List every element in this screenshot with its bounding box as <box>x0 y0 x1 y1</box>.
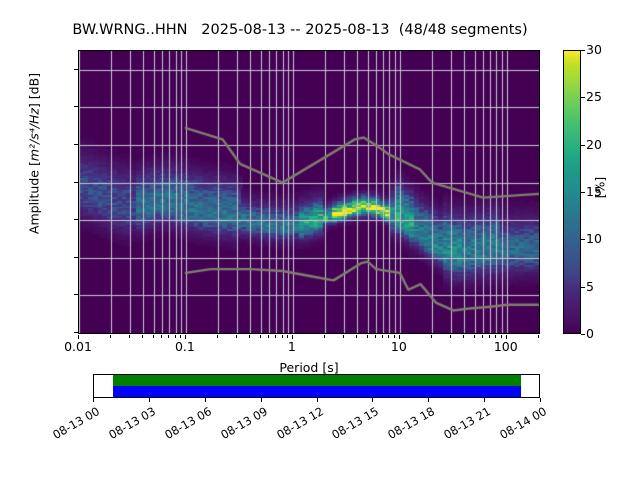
timeline-tick-mark <box>540 398 541 402</box>
timeline-tick-label: 08-14 00 <box>492 404 549 445</box>
colorbar-tick-mark <box>581 97 585 98</box>
timeline-tick-label: 08-13 15 <box>324 404 381 445</box>
x-tick-minor <box>431 335 432 338</box>
timeline-tick-label: 08-13 00 <box>45 404 102 445</box>
x-axis-label: Period [s] <box>78 360 540 375</box>
x-tick-minor <box>260 335 261 338</box>
colorbar-tick-label: 30 <box>586 42 602 57</box>
colorbar-tick-mark <box>581 145 585 146</box>
x-tick-minor <box>382 335 383 338</box>
x-tick-minor <box>161 335 162 338</box>
x-tick-minor <box>356 335 357 338</box>
y-tick-mark <box>74 257 78 258</box>
timeline-tick-mark <box>372 398 373 402</box>
x-tick-label: 0.1 <box>145 339 225 354</box>
x-tick-minor <box>538 335 539 338</box>
y-axis-label: Amplitude [m²/s⁴/Hz] [dB] <box>27 24 42 284</box>
x-tick-minor <box>110 335 111 338</box>
x-tick-label: 1 <box>252 339 332 354</box>
y-tick-mark <box>74 106 78 107</box>
x-tick-minor <box>375 335 376 338</box>
y-tick-mark <box>74 144 78 145</box>
y-tick-mark <box>74 219 78 220</box>
colorbar-tick-label: 0 <box>586 326 594 341</box>
timeline-tick-mark <box>317 398 318 402</box>
colorbar-label: [%] <box>593 108 608 268</box>
coverage-bar-blue <box>113 386 521 397</box>
colorbar-tick-label: 5 <box>586 279 594 294</box>
colorbar-tick-label: 25 <box>586 89 602 104</box>
x-tick-minor <box>268 335 269 338</box>
timeline-tick-label: 08-13 03 <box>101 404 158 445</box>
colorbar-tick-mark <box>581 239 585 240</box>
page-title: BW.WRNG..HHN 2025-08-13 -- 2025-08-13 (4… <box>0 22 600 38</box>
timeline-tick-label: 08-13 21 <box>436 404 493 445</box>
ppsd-plot-area[interactable] <box>78 50 540 334</box>
x-tick-mark <box>78 335 79 339</box>
x-tick-minor <box>236 335 237 338</box>
y-axis-label-suffix: ] [dB] <box>27 73 42 108</box>
x-tick-minor <box>282 335 283 338</box>
x-tick-label: 0.01 <box>38 339 118 354</box>
timeline-tick-mark <box>93 398 94 402</box>
timeline-tick-label: 08-13 18 <box>380 404 437 445</box>
colorbar[interactable] <box>563 50 581 334</box>
x-tick-label: 100 <box>466 339 546 354</box>
colorbar-tick-mark <box>581 192 585 193</box>
timeline-tick-mark <box>149 398 150 402</box>
colorbar-tick-mark <box>581 334 585 335</box>
x-tick-minor <box>287 335 288 338</box>
timeline-tick-label: 08-13 06 <box>157 404 214 445</box>
timeline-tick-label: 08-13 09 <box>212 404 269 445</box>
x-tick-minor <box>343 335 344 338</box>
x-tick-mark <box>185 335 186 339</box>
y-axis-label-text: Amplitude [ <box>27 161 42 234</box>
x-tick-minor <box>463 335 464 338</box>
x-tick-minor <box>394 335 395 338</box>
y-tick-mark <box>74 294 78 295</box>
x-tick-mark <box>292 335 293 339</box>
x-tick-minor <box>482 335 483 338</box>
x-tick-minor <box>501 335 502 338</box>
noise-model-curves <box>79 51 539 333</box>
timeline-tick-label: 08-13 12 <box>268 404 325 445</box>
x-tick-minor <box>153 335 154 338</box>
x-tick-minor <box>489 335 490 338</box>
x-tick-minor <box>388 335 389 338</box>
coverage-bar-green <box>113 375 521 386</box>
x-tick-minor <box>142 335 143 338</box>
timeline-tick-mark <box>484 398 485 402</box>
x-tick-label: 10 <box>359 339 439 354</box>
y-tick-mark <box>74 182 78 183</box>
y-axis-label-units: m²/s⁴/Hz <box>27 108 42 161</box>
x-tick-minor <box>275 335 276 338</box>
x-tick-minor <box>129 335 130 338</box>
x-tick-minor <box>474 335 475 338</box>
timeline-tick-mark <box>205 398 206 402</box>
timeline-tick-mark <box>261 398 262 402</box>
x-tick-minor <box>180 335 181 338</box>
colorbar-tick-mark <box>581 287 585 288</box>
data-coverage-timeline[interactable] <box>93 374 540 398</box>
y-tick-mark <box>74 332 78 333</box>
x-tick-minor <box>249 335 250 338</box>
y-tick-mark <box>74 69 78 70</box>
x-tick-minor <box>168 335 169 338</box>
x-tick-minor <box>367 335 368 338</box>
x-tick-minor <box>495 335 496 338</box>
x-tick-minor <box>217 335 218 338</box>
timeline-tick-mark <box>428 398 429 402</box>
x-tick-mark <box>506 335 507 339</box>
x-tick-mark <box>399 335 400 339</box>
colorbar-tick-mark <box>581 50 585 51</box>
x-tick-minor <box>324 335 325 338</box>
x-tick-minor <box>175 335 176 338</box>
x-tick-minor <box>450 335 451 338</box>
